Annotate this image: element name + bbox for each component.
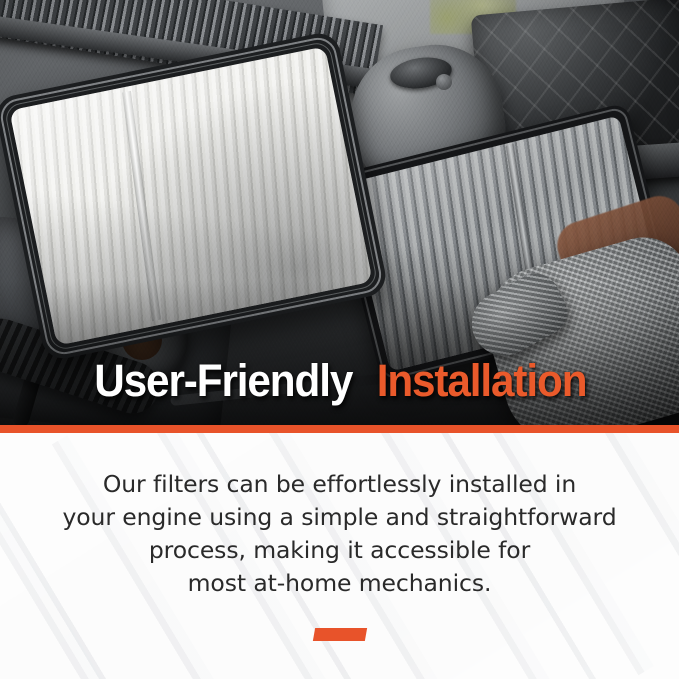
body-copy-line-1: Our filters can be effortlessly installe… [0,468,679,501]
body-copy: Our filters can be effortlessly installe… [0,468,679,600]
orange-accent-mark [312,628,366,641]
orange-divider [0,425,679,433]
body-copy-line-4: most at-home mechanics. [0,567,679,600]
accent-mark-container [0,628,679,641]
headline-part-accent: Installation [377,358,587,403]
headline: User-Friendly Installation [0,352,679,408]
headline-part-primary: User-Friendly [94,358,352,403]
body-copy-line-3: process, making it accessible for [0,534,679,567]
body-copy-line-2: your engine using a simple and straightf… [0,501,679,534]
promo-banner-card: User-Friendly Installation Our filters c… [0,0,679,679]
headline-space [360,358,369,403]
engine-bay-photo: User-Friendly Installation [0,0,679,425]
